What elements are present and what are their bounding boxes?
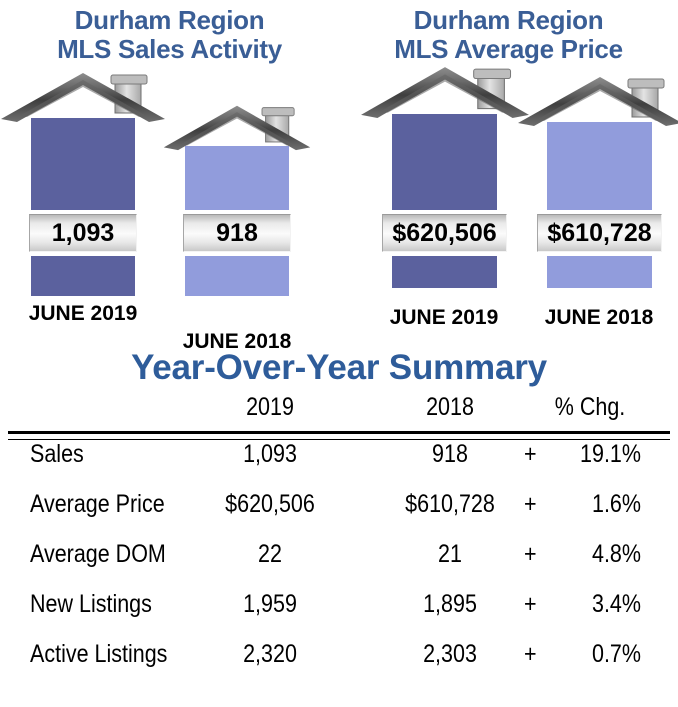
house-value-price-2018: $610,728 [547,219,651,248]
row-change-sign: + [524,590,537,619]
house-caption-price-2019: JUNE 2019 [370,306,518,330]
row-label: Average DOM [30,540,166,569]
panel-title-sales: Durham Region MLS Sales Activity [0,6,339,64]
value-plaque: $620,506 [378,210,511,256]
roof-icon [162,104,312,151]
row-label: New Listings [30,590,152,619]
row-pct-change: 4.8% [555,540,641,569]
row-pct-change: 0.7% [555,640,641,669]
row-change-sign: + [524,440,537,469]
row-change-sign: + [524,640,537,669]
row-change-sign: + [524,490,537,519]
row-label: Average Price [30,490,165,519]
table-body: Sales 1,093 918 + 19.1% Average Price $6… [0,440,678,690]
row-label: Sales [30,440,84,469]
panel-title-sales-line2: MLS Sales Activity [0,35,339,64]
roof-icon [359,65,531,119]
table-column-headers: 2019 2018 % Chg. [0,393,678,431]
row-change-sign: + [524,540,537,569]
row-value-2019: 22 [210,540,330,569]
row-value-2019: 2,320 [210,640,330,669]
roof-icon [516,75,678,127]
table-header-rule [8,431,670,440]
row-value-2018: 918 [390,440,510,469]
row-label: Active Listings [30,640,167,669]
house-value-sales-2019: 1,093 [52,219,115,248]
house-value-price-2019: $620,506 [392,219,496,248]
house-caption-price-2018: JUNE 2018 [525,306,673,330]
row-value-2018: 1,895 [390,590,510,619]
table-row: Sales 1,093 918 + 19.1% [0,440,678,490]
panel-title-average-price-line1: Durham Region [339,6,678,35]
infographic-canvas: Durham Region MLS Sales Activity Durham … [0,0,678,707]
table-row: Average Price $620,506 $610,728 + 1.6% [0,490,678,540]
house-body [547,122,652,288]
column-header-2019: 2019 [210,393,330,422]
row-value-2019: $620,506 [210,490,330,519]
house-body [31,118,135,296]
house-sales-2018: 918 JUNE 2018 [185,146,289,296]
house-body [392,114,497,288]
value-plaque: 1,093 [25,210,141,256]
value-plaque: 918 [179,210,295,256]
summary-heading: Year-Over-Year Summary [0,348,678,388]
row-pct-change: 19.1% [555,440,641,469]
column-header-2018: 2018 [390,393,510,422]
house-price-2019: $620,506 JUNE 2019 [392,114,497,288]
panel-title-average-price-line2: MLS Average Price [339,35,678,64]
panel-title-sales-line1: Durham Region [0,6,339,35]
table-row: Active Listings 2,320 2,303 + 0.7% [0,640,678,690]
row-value-2018: 21 [390,540,510,569]
row-value-2018: 2,303 [390,640,510,669]
table-row: Average DOM 22 21 + 4.8% [0,540,678,590]
house-sales-2019: 1,093 JUNE 2019 [31,118,135,296]
panel-title-average-price: Durham Region MLS Average Price [339,6,678,64]
row-value-2019: 1,093 [210,440,330,469]
column-header-pct-change: % Chg. [530,393,650,422]
row-value-2018: $610,728 [390,490,510,519]
value-plaque: $610,728 [533,210,666,256]
row-pct-change: 1.6% [555,490,641,519]
house-value-sales-2018: 918 [216,219,258,248]
house-caption-sales-2019: JUNE 2019 [9,302,157,326]
roof-icon [0,71,167,123]
row-pct-change: 3.4% [555,590,641,619]
row-value-2019: 1,959 [210,590,330,619]
year-over-year-table: 2019 2018 % Chg. Sales 1,093 918 + 19.1%… [0,393,678,431]
house-price-2018: $610,728 JUNE 2018 [547,122,652,288]
table-row: New Listings 1,959 1,895 + 3.4% [0,590,678,640]
